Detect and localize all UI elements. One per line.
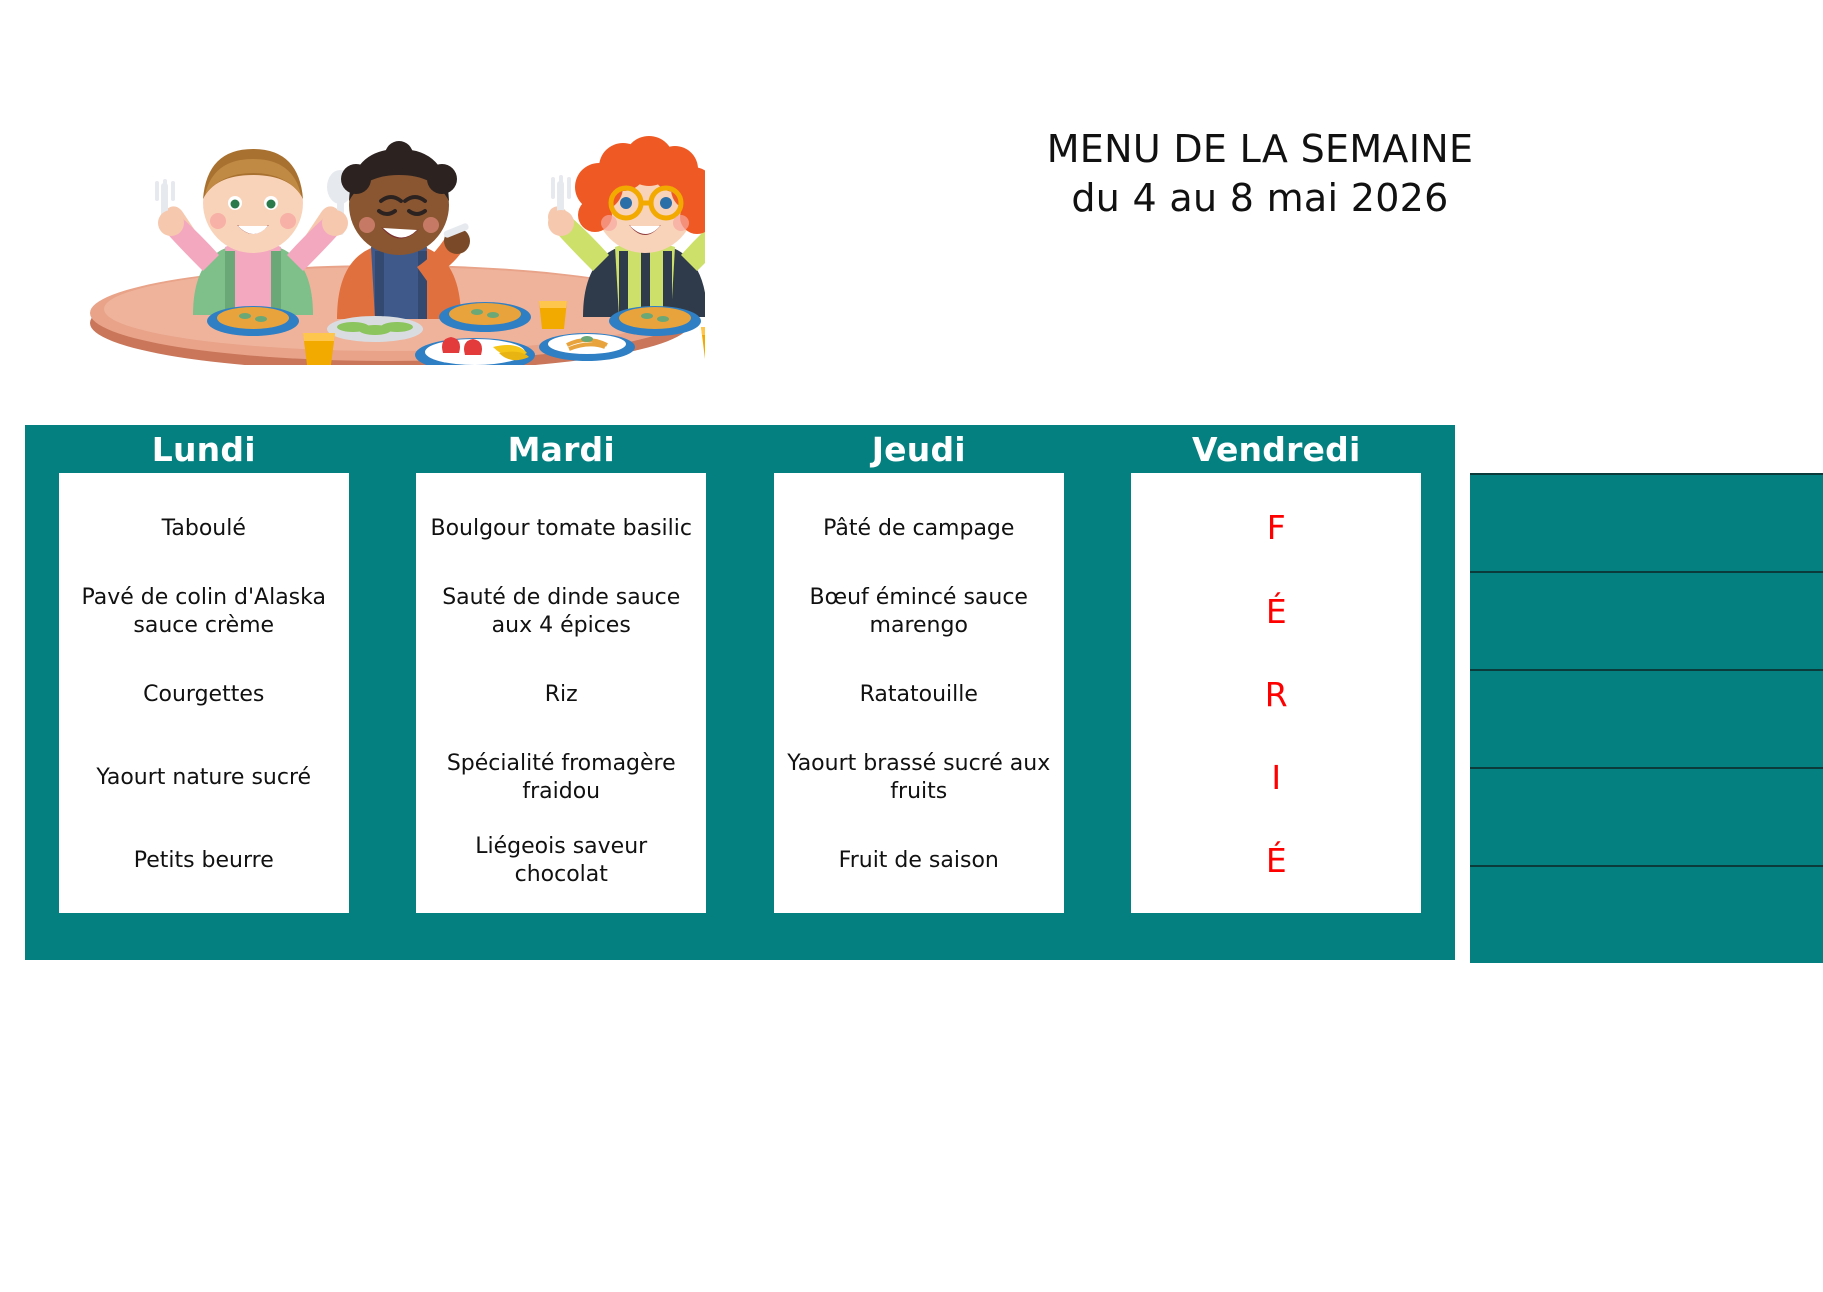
side-block xyxy=(1470,767,1823,865)
menu-panel-lundi: Taboulé Pavé de colin d'Alaska sauce crè… xyxy=(59,473,349,913)
ferie-letter: I xyxy=(1137,737,1415,820)
menu-column-mardi: Boulgour tomate basilic Sauté de dinde s… xyxy=(383,473,741,913)
title-line-1: MENU DE LA SEMAINE xyxy=(930,125,1590,174)
ferie-letter: É xyxy=(1137,820,1415,903)
menu-panel-jeudi: Pâté de campage Bœuf émincé sauce mareng… xyxy=(774,473,1064,913)
menu-item: Yaourt nature sucré xyxy=(65,737,343,820)
menu-item: Yaourt brassé sucré aux fruits xyxy=(780,737,1058,820)
day-header-vendredi: Vendredi xyxy=(1098,425,1456,473)
menu-item: Taboulé xyxy=(65,487,343,570)
side-block xyxy=(1470,473,1823,571)
menu-panel-mardi: Boulgour tomate basilic Sauté de dinde s… xyxy=(416,473,706,913)
page-title: MENU DE LA SEMAINE du 4 au 8 mai 2026 xyxy=(930,125,1590,222)
side-block xyxy=(1470,669,1823,767)
menu-item: Boulgour tomate basilic xyxy=(422,487,700,570)
ferie-letter: F xyxy=(1137,487,1415,570)
day-header-jeudi: Jeudi xyxy=(740,425,1098,473)
menu-item: Liégeois saveur chocolat xyxy=(422,820,700,903)
ferie-letter: R xyxy=(1137,653,1415,736)
menu-panel-vendredi-ferie: F É R I É xyxy=(1131,473,1421,913)
menu-item: Fruit de saison xyxy=(780,820,1058,903)
menu-item: Pâté de campage xyxy=(780,487,1058,570)
side-block xyxy=(1470,571,1823,669)
menu-item: Courgettes xyxy=(65,653,343,736)
ferie-letter: É xyxy=(1137,570,1415,653)
menu-page: MENU DE LA SEMAINE du 4 au 8 mai 2026 Lu… xyxy=(0,0,1823,1292)
menu-column-lundi: Taboulé Pavé de colin d'Alaska sauce crè… xyxy=(25,473,383,913)
menu-item: Petits beurre xyxy=(65,820,343,903)
menu-column-vendredi: F É R I É xyxy=(1098,473,1456,913)
menu-column-jeudi: Pâté de campage Bœuf émincé sauce mareng… xyxy=(740,473,1098,913)
menu-item: Pavé de colin d'Alaska sauce crème xyxy=(65,570,343,653)
menu-panels-row: Taboulé Pavé de colin d'Alaska sauce crè… xyxy=(25,473,1455,913)
menu-item: Spécialité fromagère fraidou xyxy=(422,737,700,820)
menu-item: Ratatouille xyxy=(780,653,1058,736)
day-header-lundi: Lundi xyxy=(25,425,383,473)
side-teal-strip xyxy=(1470,473,1823,963)
side-block xyxy=(1470,865,1823,963)
children-eating-illustration xyxy=(75,75,705,365)
menu-item: Bœuf émincé sauce marengo xyxy=(780,570,1058,653)
title-line-2: du 4 au 8 mai 2026 xyxy=(930,174,1590,223)
day-header-mardi: Mardi xyxy=(383,425,741,473)
menu-item: Riz xyxy=(422,653,700,736)
menu-table: Lundi Mardi Jeudi Vendredi Taboulé Pavé … xyxy=(25,425,1455,960)
day-header-row: Lundi Mardi Jeudi Vendredi xyxy=(25,425,1455,473)
menu-item: Sauté de dinde sauce aux 4 épices xyxy=(422,570,700,653)
